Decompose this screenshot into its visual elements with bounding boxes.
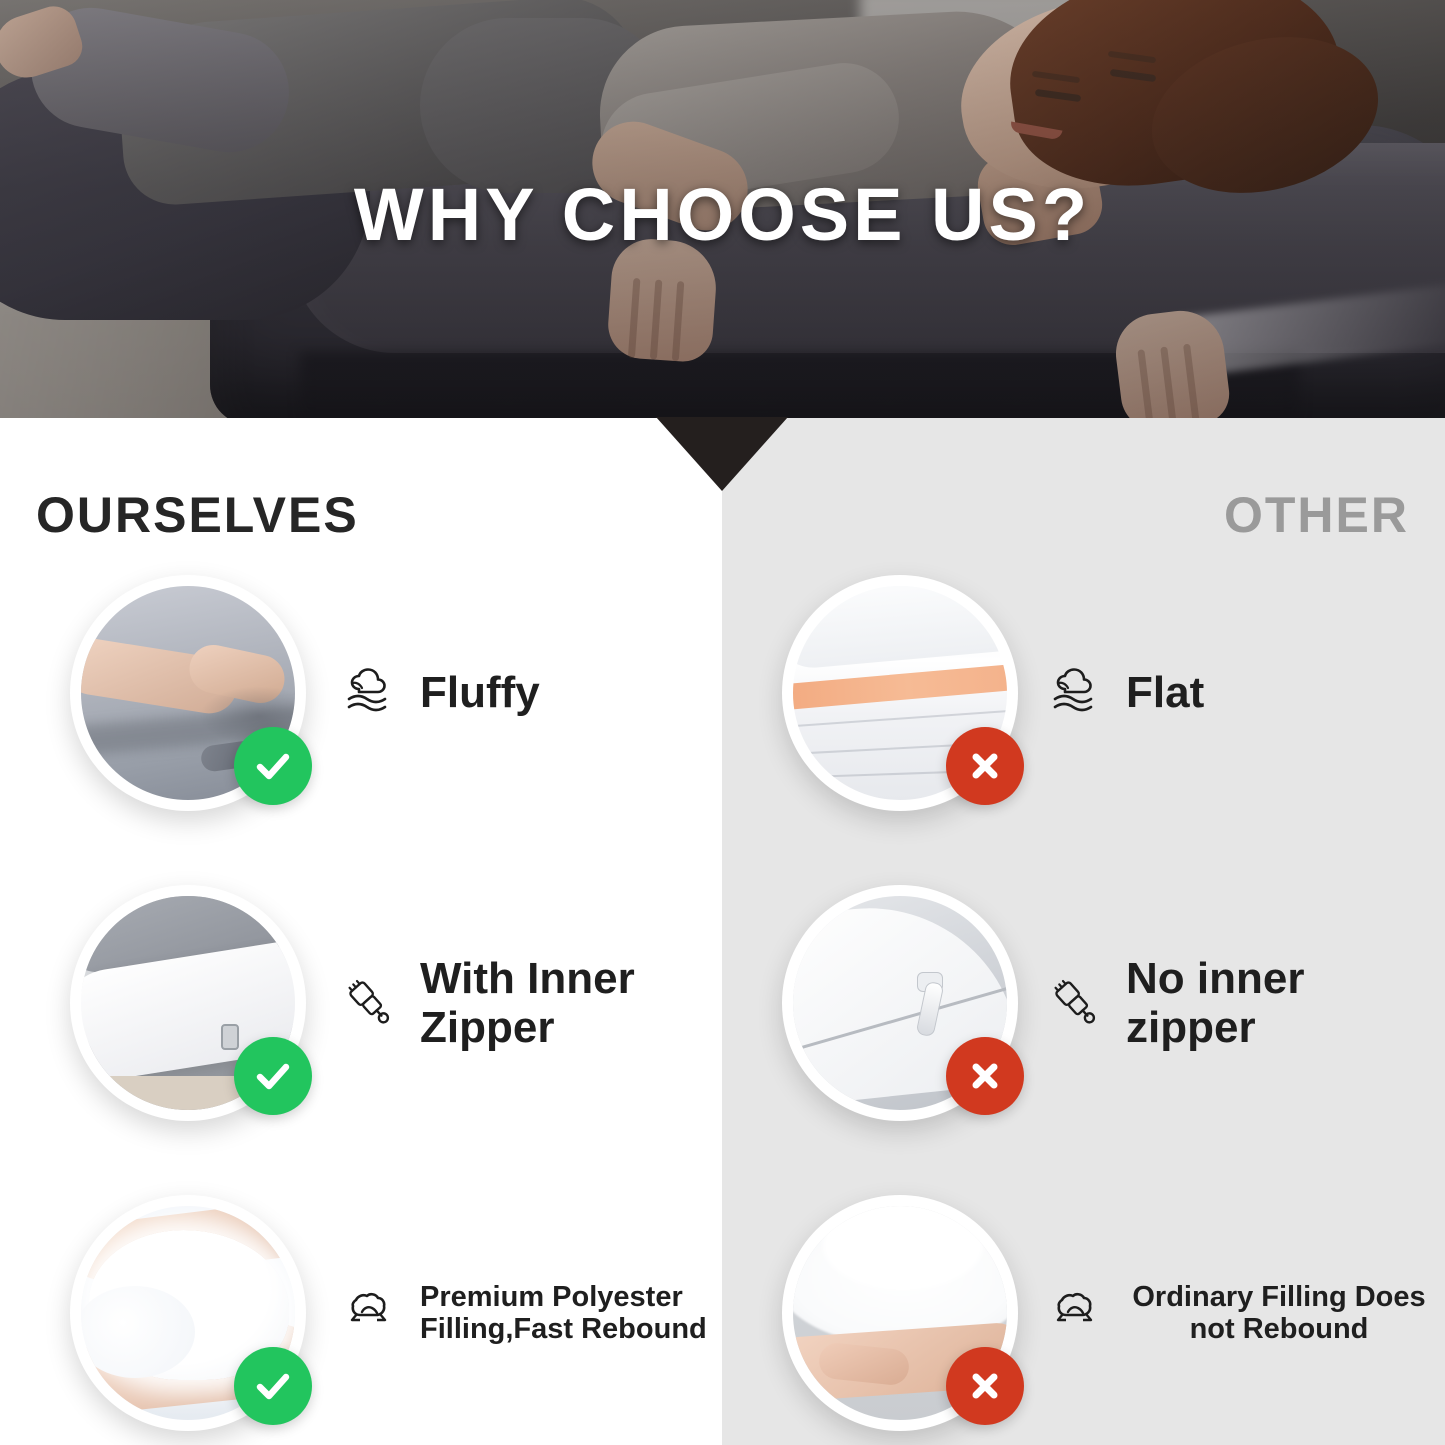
feature-label: Ordinary Filling Does not Rebound — [1126, 1281, 1432, 1346]
pointer-notch — [656, 417, 788, 491]
thumb-filling-ours[interactable] — [70, 1195, 306, 1431]
feature-fluffy-ours: Fluffy — [342, 665, 540, 721]
feature-label: Fluffy — [420, 668, 540, 717]
feature-label: Flat — [1126, 668, 1204, 717]
feature-label: With Inner Zipper — [420, 954, 710, 1053]
feature-filling-ours: Premium Polyester Filling,Fast Rebound — [342, 1281, 710, 1346]
thumb-zipper-ours[interactable] — [70, 885, 306, 1121]
feature-row-fluffy: Fluffy — [70, 568, 710, 818]
ourselves-header: OURSELVES — [36, 486, 359, 544]
cross-icon — [946, 727, 1024, 805]
thumb-flat-other[interactable] — [782, 575, 1018, 811]
feature-row-inner-zipper: With Inner Zipper — [70, 878, 710, 1128]
infographic-page: WHY CHOOSE US? OURSELVES — [0, 0, 1445, 1445]
fluffy-cloud-icon — [1048, 665, 1104, 721]
feature-row-flat: Flat — [782, 568, 1432, 818]
cross-icon — [946, 1037, 1024, 1115]
feature-row-filling: Premium Polyester Filling,Fast Rebound — [70, 1188, 710, 1438]
check-icon — [234, 1347, 312, 1425]
feature-row-ordinary-filling: Ordinary Filling Does not Rebound — [782, 1188, 1432, 1438]
hero-title: WHY CHOOSE US? — [0, 172, 1445, 257]
thumb-filling-other[interactable] — [782, 1195, 1018, 1431]
other-panel: OTHER — [722, 418, 1445, 1445]
zipper-icon — [342, 975, 398, 1031]
fluffy-cloud-icon — [342, 665, 398, 721]
other-header: OTHER — [1224, 486, 1409, 544]
check-icon — [234, 727, 312, 805]
fiber-fill-icon — [342, 1285, 398, 1341]
zipper-icon — [1048, 975, 1104, 1031]
feature-inner-zipper-ours: With Inner Zipper — [342, 954, 710, 1053]
thumb-zipper-other[interactable] — [782, 885, 1018, 1121]
feature-label: Premium Polyester Filling,Fast Rebound — [420, 1281, 710, 1346]
feature-row-no-zipper: No inner zipper — [782, 878, 1432, 1128]
feature-label: No inner zipper — [1126, 954, 1432, 1053]
ourselves-panel: OURSELVES — [0, 418, 722, 1445]
thumb-fluffy-ours[interactable] — [70, 575, 306, 811]
fiber-fill-icon — [1048, 1285, 1104, 1341]
comparison-section: OURSELVES — [0, 418, 1445, 1445]
feature-no-zipper-other: No inner zipper — [1048, 954, 1432, 1053]
check-icon — [234, 1037, 312, 1115]
feature-flat-other: Flat — [1048, 665, 1204, 721]
feature-ordinary-filling-other: Ordinary Filling Does not Rebound — [1048, 1281, 1432, 1346]
hero-banner: WHY CHOOSE US? — [0, 0, 1445, 418]
cross-icon — [946, 1347, 1024, 1425]
